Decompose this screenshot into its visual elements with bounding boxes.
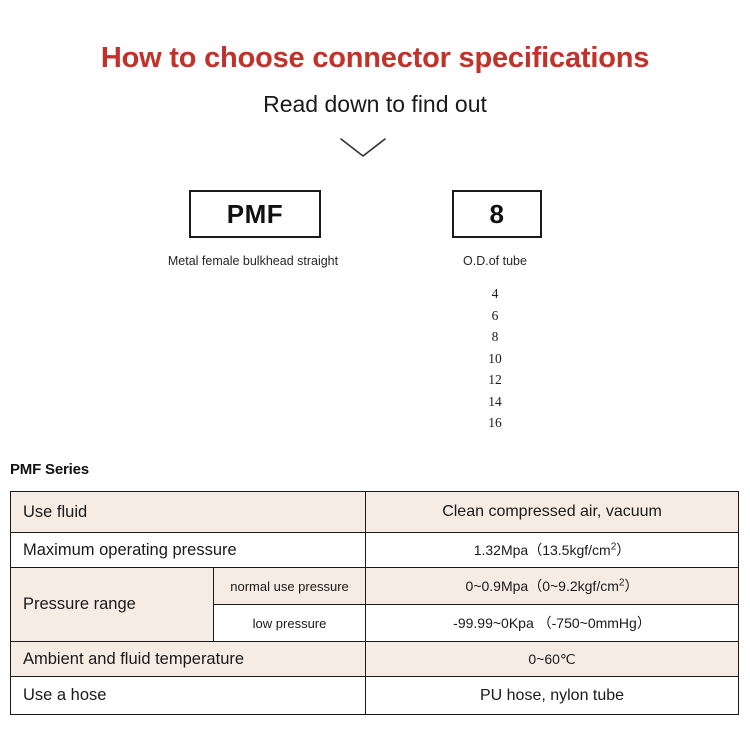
row-value-paren-open: （13.5kgf/cm <box>528 542 610 558</box>
row-value-main: 0~0.9Mpa <box>466 578 529 594</box>
list-item[interactable]: 10 <box>425 348 565 370</box>
list-item[interactable]: 4 <box>425 283 565 305</box>
list-item[interactable]: 14 <box>425 391 565 413</box>
row-label: Maximum operating pressure <box>11 533 366 568</box>
series-code-box[interactable]: PMF <box>189 190 321 238</box>
table-row: Ambient and fluid temperature 0~60℃ <box>11 642 739 677</box>
table-row: Maximum operating pressure 1.32Mpa（13.5k… <box>11 533 739 568</box>
row-label: Ambient and fluid temperature <box>11 642 366 677</box>
list-item[interactable]: 12 <box>425 369 565 391</box>
row-value: 1.32Mpa（13.5kgf/cm2） <box>366 533 739 568</box>
list-item[interactable]: 16 <box>425 412 565 434</box>
chevron-down-icon <box>338 134 388 162</box>
tube-size-box[interactable]: 8 <box>452 190 542 238</box>
tube-size-text: 8 <box>490 199 505 230</box>
row-value: -99.99~0Kpa （-750~0mmHg） <box>366 605 739 642</box>
row-sublabel: normal use pressure <box>214 568 366 605</box>
row-sublabel: low pressure <box>214 605 366 642</box>
row-label-pressure-range: Pressure range <box>11 568 214 642</box>
row-value: 0~0.9Mpa（0~9.2kgf/cm2） <box>366 568 739 605</box>
tube-size-option-list: 4 6 8 10 12 14 16 <box>425 283 565 434</box>
spec-table: Use fluid Clean compressed air, vacuum M… <box>10 491 739 715</box>
row-value: 0~60℃ <box>366 642 739 677</box>
list-item[interactable]: 6 <box>425 305 565 327</box>
list-item[interactable]: 8 <box>425 326 565 348</box>
series-code-text: PMF <box>227 199 283 230</box>
row-value-paren-open: （0~9.2kgf/cm <box>528 578 619 594</box>
row-value: Clean compressed air, vacuum <box>366 492 739 533</box>
tube-size-caption: O.D.of tube <box>425 253 565 269</box>
table-row: Use a hose PU hose, nylon tube <box>11 677 739 715</box>
spec-table-heading: PMF Series <box>10 461 89 478</box>
table-row: Pressure range normal use pressure 0~0.9… <box>11 568 739 605</box>
row-value-main: 1.32Mpa <box>474 542 528 558</box>
row-label: Use fluid <box>11 492 366 533</box>
row-label: Use a hose <box>11 677 366 715</box>
table-row: Use fluid Clean compressed air, vacuum <box>11 492 739 533</box>
row-value-paren-close: ） <box>616 542 630 558</box>
page-title: How to choose connector specifications <box>0 41 750 75</box>
series-code-caption: Metal female bulkhead straight <box>133 253 373 269</box>
page-subtitle: Read down to find out <box>0 90 750 118</box>
row-value: PU hose, nylon tube <box>366 677 739 715</box>
row-value-paren-close: ） <box>624 578 638 594</box>
